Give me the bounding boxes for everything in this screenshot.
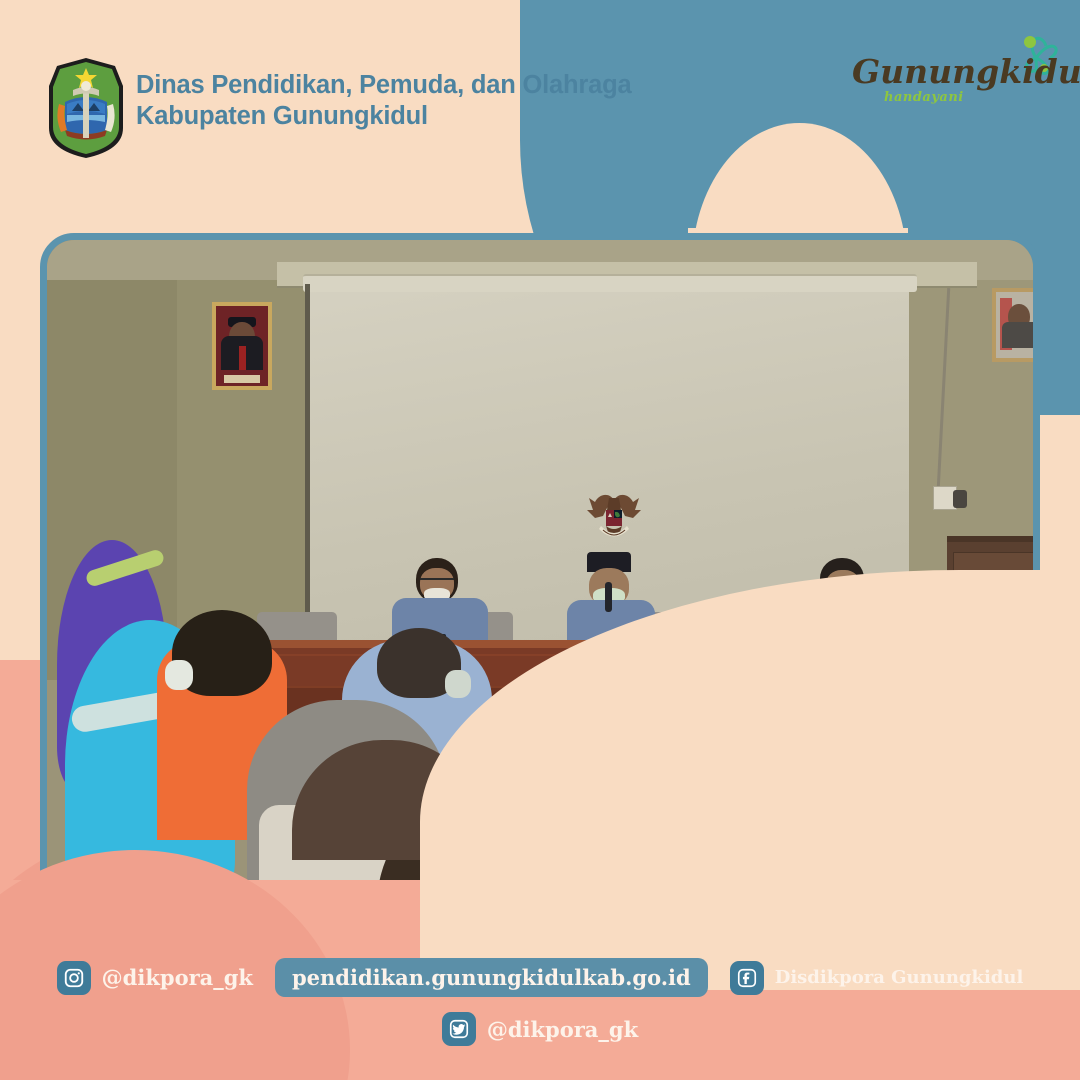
- wall-plug: [953, 490, 967, 508]
- regency-crest-icon: [45, 56, 127, 160]
- instagram-icon[interactable]: [57, 961, 91, 995]
- president-portrait: [212, 302, 272, 390]
- face-mask: [445, 670, 471, 698]
- poster-header: Dinas Pendidikan, Pemuda, dan Olahraga K…: [0, 0, 1080, 200]
- social-row-primary: @dikpora_gk pendidikan.gunungkidulkab.go…: [0, 958, 1080, 997]
- facebook-page-name[interactable]: Disdikpora Gunungkidul: [775, 967, 1024, 988]
- microphone: [605, 582, 612, 612]
- social-row-secondary: @dikpora_gk: [0, 1012, 1080, 1046]
- vice-president-portrait: [992, 288, 1033, 362]
- portrait-nameplate: [224, 375, 260, 383]
- face-mask: [165, 660, 193, 690]
- instagram-handle[interactable]: @dikpora_gk: [102, 965, 253, 990]
- portrait-suit: [1002, 322, 1033, 348]
- projector-screen-roller: [303, 274, 917, 292]
- social-footer: @dikpora_gk pendidikan.gunungkidulkab.go…: [0, 930, 1080, 1080]
- garuda-pancasila-emblem: [579, 488, 649, 546]
- facebook-icon[interactable]: [730, 961, 764, 995]
- brand-wordmark: Gunungkidul: [852, 52, 1080, 91]
- gunungkidul-brand-logo: Gunungkidul handayani: [852, 42, 1062, 120]
- page-title: Dinas Pendidikan, Pemuda, dan Olahraga K…: [136, 70, 631, 132]
- poster-canvas: Dinas Pendidikan, Pemuda, dan Olahraga K…: [0, 0, 1080, 1080]
- page-title-line-2: Kabupaten Gunungkidul: [136, 101, 631, 132]
- portrait-tie: [239, 346, 246, 370]
- glasses-icon: [420, 578, 454, 586]
- twitter-icon[interactable]: [442, 1012, 476, 1046]
- brand-tagline: handayani: [884, 90, 964, 105]
- page-title-line-1: Dinas Pendidikan, Pemuda, dan Olahraga: [136, 70, 631, 101]
- website-url-badge[interactable]: pendidikan.gunungkidulkab.go.id: [275, 958, 708, 997]
- twitter-handle[interactable]: @dikpora_gk: [487, 1017, 638, 1042]
